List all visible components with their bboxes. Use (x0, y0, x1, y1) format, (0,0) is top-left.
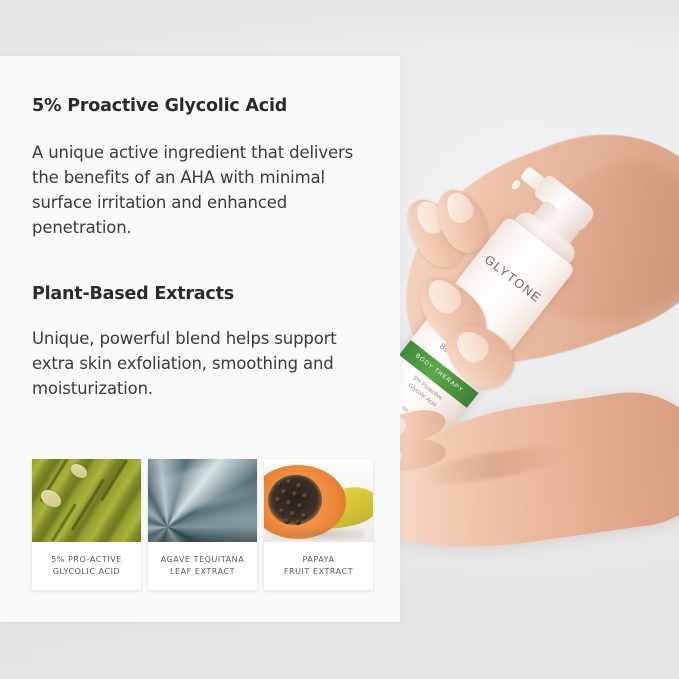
ingredient-card-agave: AGAVE TEQUITANA LEAF EXTRACT (148, 459, 257, 590)
agave-shadow (148, 518, 257, 542)
caption-line1: 5% PRO-ACTIVE (51, 555, 122, 564)
cane-node (51, 503, 77, 542)
papaya-seed (301, 513, 307, 519)
cane-cut-end (68, 461, 90, 481)
papaya-seed (297, 503, 303, 509)
product-detail-image: GLYTONE Resurfacing Body Oil BODY THERAP… (0, 0, 679, 679)
caption-line2: FRUIT EXTRACT (284, 567, 353, 576)
papaya-drop-shadow (272, 528, 364, 540)
section-title: 5% Proactive Glycolic Acid (32, 96, 362, 116)
caption-line1: AGAVE TEQUITANA (161, 555, 244, 564)
papaya-seed-cavity (268, 475, 322, 525)
papaya-seed (296, 483, 302, 489)
papaya-seed (279, 508, 285, 514)
papaya-seed (275, 497, 281, 503)
ingredient-card-caption: 5% PRO-ACTIVE GLYCOLIC ACID (32, 542, 141, 590)
papaya-seed (295, 519, 301, 525)
papaya-seed (284, 518, 290, 524)
papaya-seed (286, 479, 292, 485)
papaya-seed (281, 489, 287, 495)
ingredient-card-caption: PAPAYA FRUIT EXTRACT (264, 542, 373, 590)
section-body: Unique, powerful blend helps support ext… (32, 326, 362, 401)
sugarcane-image (32, 459, 141, 542)
ingredient-card-glycolic-acid: 5% PRO-ACTIVE GLYCOLIC ACID (32, 459, 141, 590)
papaya-seed (290, 511, 296, 517)
content-panel: 5% Proactive Glycolic Acid A unique acti… (0, 56, 400, 622)
caption-line1: PAPAYA (303, 555, 335, 564)
caption-line2: GLYCOLIC ACID (53, 567, 120, 576)
ingredient-card-papaya: PAPAYA FRUIT EXTRACT (264, 459, 373, 590)
papaya-seed (286, 500, 292, 506)
papaya-seed (302, 493, 308, 499)
agave-leaves-image (148, 459, 257, 542)
ingredient-card-list: 5% PRO-ACTIVE GLYCOLIC ACID AGAVE TEQUIT… (32, 459, 373, 590)
section-glycolic-acid: 5% Proactive Glycolic Acid A unique acti… (32, 96, 362, 240)
section-body: A unique active ingredient that delivers… (32, 140, 362, 240)
section-plant-based-extracts: Plant-Based Extracts Unique, powerful bl… (32, 284, 362, 401)
papaya-fruit-image (264, 459, 373, 542)
papaya-seed (276, 481, 282, 487)
bottle-brand-name: GLYTONE (481, 252, 545, 306)
papaya-seed (292, 491, 298, 497)
ingredient-card-caption: AGAVE TEQUITANA LEAF EXTRACT (148, 542, 257, 590)
caption-line2: LEAF EXTRACT (170, 567, 235, 576)
agave-highlight (148, 459, 257, 522)
cane-cut-end (38, 486, 65, 510)
section-title: Plant-Based Extracts (32, 284, 362, 304)
